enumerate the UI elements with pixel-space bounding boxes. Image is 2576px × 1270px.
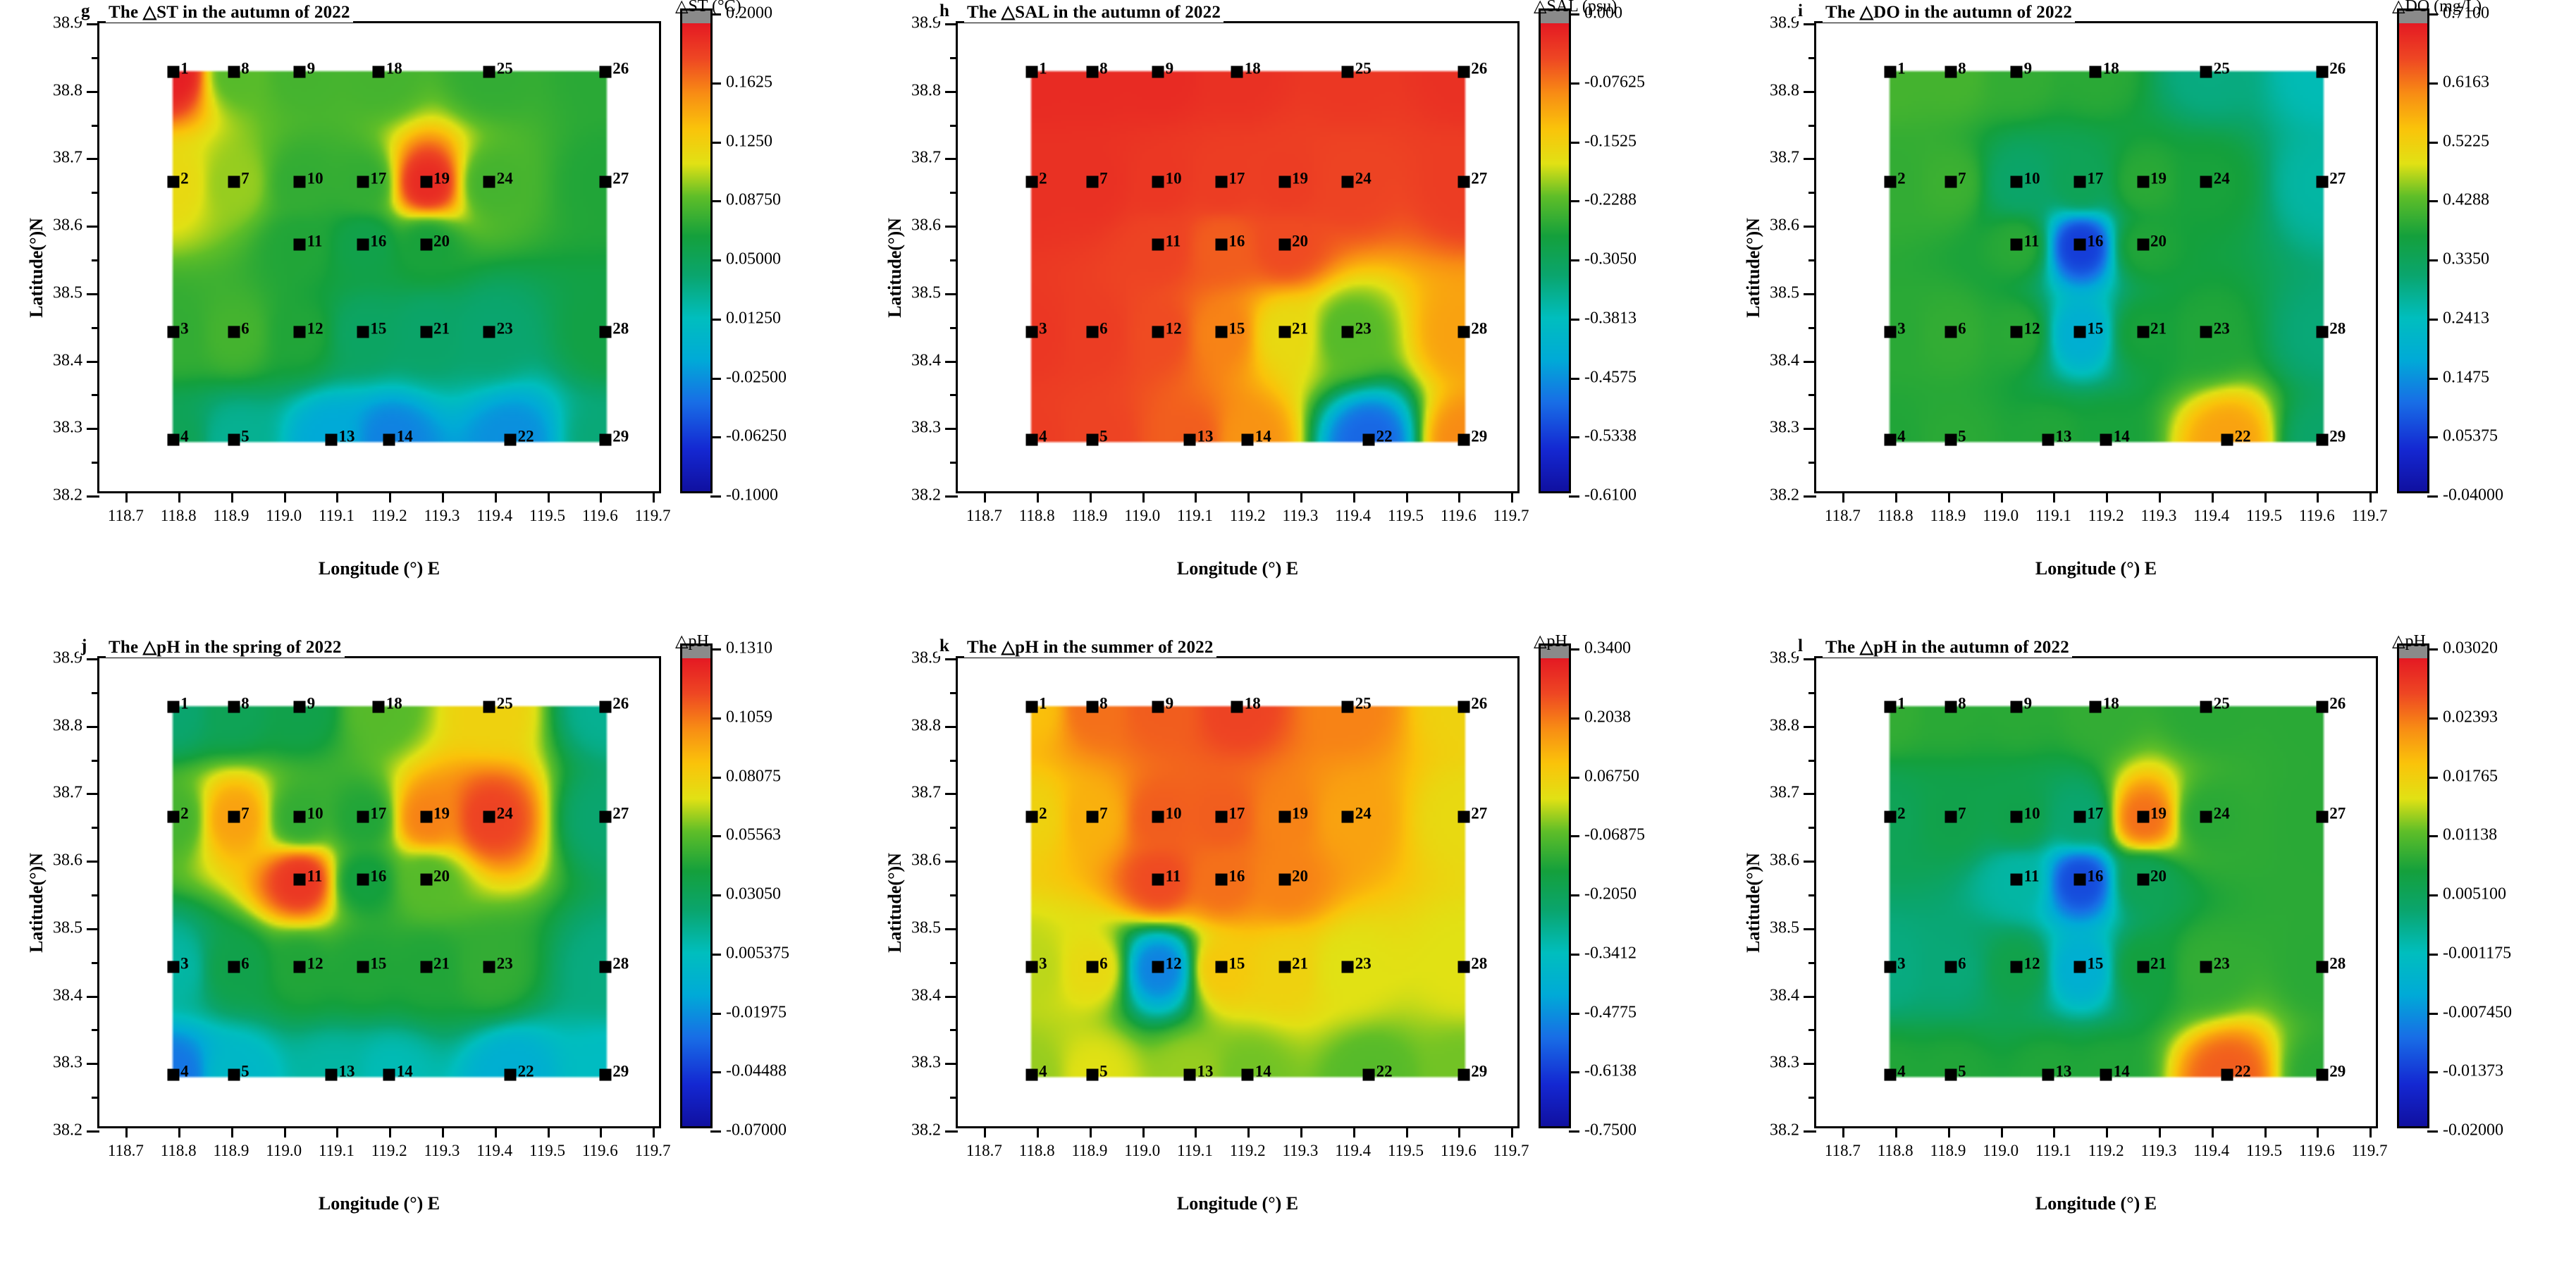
y-axis-minor-tick xyxy=(92,692,99,694)
station-dot-icon xyxy=(420,238,432,250)
station-dot-icon xyxy=(599,433,611,445)
y-axis-minor-tick xyxy=(92,894,99,896)
station-marker: 16 xyxy=(357,873,369,885)
station-marker: 21 xyxy=(420,961,432,973)
station-dot-icon xyxy=(294,873,306,885)
colorbar-tick xyxy=(1569,894,1579,896)
station-label: 20 xyxy=(433,868,450,884)
station-marker: 6 xyxy=(1945,326,1956,338)
x-axis-tick xyxy=(653,1126,655,1138)
colorbar-tick-label: 0.2413 xyxy=(2443,309,2489,328)
y-axis-tick xyxy=(1804,91,1816,93)
y-axis-minor-tick xyxy=(950,760,958,762)
colorbar-tick xyxy=(710,835,721,837)
station-marker: 11 xyxy=(1152,238,1164,250)
station-dot-icon xyxy=(1025,175,1037,187)
station-dot-icon xyxy=(2316,66,2328,78)
station-marker: 25 xyxy=(1342,66,1354,78)
station-label: 11 xyxy=(1166,233,1181,249)
station-dot-icon xyxy=(373,701,385,713)
y-axis-minor-tick xyxy=(92,462,99,464)
station-label: 6 xyxy=(1099,321,1108,337)
station-dot-icon xyxy=(2011,326,2023,338)
x-axis-tick xyxy=(1300,1126,1302,1138)
station-label: 2 xyxy=(1897,170,1906,186)
colorbar-tick xyxy=(2427,259,2438,261)
station-label: 8 xyxy=(1958,60,1966,76)
station-dot-icon xyxy=(2073,326,2085,338)
station-label: 9 xyxy=(1166,60,1174,76)
station-dot-icon xyxy=(483,961,495,973)
station-dot-icon xyxy=(1215,238,1227,250)
station-label: 27 xyxy=(2329,170,2346,186)
y-axis-tick xyxy=(1804,1130,1816,1133)
station-marker: 22 xyxy=(2221,1068,2233,1080)
x-axis-tick-label: 119.6 xyxy=(2299,1142,2335,1160)
station-dot-icon xyxy=(2100,1068,2112,1080)
y-axis-tick-label: 38.7 xyxy=(53,149,82,168)
station-marker: 25 xyxy=(1342,701,1354,713)
station-label: 16 xyxy=(1228,868,1245,884)
station-label: 18 xyxy=(386,695,402,711)
station-marker: 18 xyxy=(2090,701,2102,713)
colorbar-tick xyxy=(710,319,721,321)
station-marker: 17 xyxy=(2073,175,2085,187)
y-axis-tick-label: 38.3 xyxy=(1770,1054,1799,1073)
y-axis-tick xyxy=(87,726,99,728)
station-dot-icon xyxy=(167,66,179,78)
x-axis-tick xyxy=(442,491,444,503)
y-axis-minor-tick xyxy=(950,57,958,59)
station-label: 21 xyxy=(433,956,450,972)
station-label: 27 xyxy=(1471,170,1487,186)
station-marker: 9 xyxy=(1152,701,1164,713)
station-marker: 13 xyxy=(2042,1068,2054,1080)
x-axis-tick-label: 119.2 xyxy=(1230,507,1266,525)
station-label: 14 xyxy=(1255,1063,1271,1079)
station-label: 8 xyxy=(241,695,249,711)
colorbar-tick-label: -0.7500 xyxy=(1584,1121,1637,1140)
colorbar-title: △pH xyxy=(1534,631,1567,651)
y-axis-tick xyxy=(87,428,99,430)
y-axis-tick xyxy=(87,658,99,660)
x-axis-tick xyxy=(1247,491,1250,503)
colorbar-tick-label: -0.3813 xyxy=(1584,309,1637,328)
station-label: 12 xyxy=(307,321,323,337)
y-axis-tick xyxy=(945,1063,958,1065)
y-axis-tick xyxy=(1804,226,1816,228)
station-label: 20 xyxy=(2150,233,2167,249)
station-marker: 22 xyxy=(1363,433,1375,445)
station-label: 18 xyxy=(1245,695,1261,711)
colorbar-tick-label: 0.2038 xyxy=(1584,708,1631,727)
station-dot-icon xyxy=(1231,66,1243,78)
colorbar-g: 0.20000.16250.12500.087500.050000.01250-… xyxy=(680,21,713,493)
y-axis-tick xyxy=(945,361,958,363)
y-axis-tick xyxy=(945,861,958,863)
y-axis-tick xyxy=(87,996,99,998)
station-marker: 1 xyxy=(167,701,179,713)
station-label: 1 xyxy=(180,695,189,711)
y-axis-tick xyxy=(945,1130,958,1133)
station-marker: 3 xyxy=(1025,961,1037,973)
station-label: 25 xyxy=(2214,695,2230,711)
x-axis-tick xyxy=(2317,491,2319,503)
colorbar-tick-label: -0.04488 xyxy=(726,1062,787,1081)
x-axis-tick-label: 119.5 xyxy=(2246,507,2282,525)
station-marker: 13 xyxy=(1183,1068,1195,1080)
y-axis-minor-tick xyxy=(1808,760,1816,762)
panel-letter-k: k xyxy=(937,636,951,656)
station-label: 3 xyxy=(1897,321,1906,337)
station-label: 5 xyxy=(1958,428,1966,444)
station-marker: 27 xyxy=(1458,175,1469,187)
station-marker: 4 xyxy=(167,1068,179,1080)
x-axis-tick xyxy=(2053,1126,2055,1138)
station-label: 1 xyxy=(180,60,189,76)
station-marker: 3 xyxy=(1884,961,1896,973)
x-axis-title: Longitude (°) E xyxy=(97,1193,661,1214)
station-label: 20 xyxy=(433,233,450,249)
station-marker: 24 xyxy=(2200,175,2212,187)
station-marker: 14 xyxy=(1242,433,1254,445)
station-dot-icon xyxy=(1242,1068,1254,1080)
station-marker: 29 xyxy=(599,433,611,445)
colorbar-tick xyxy=(1569,1071,1579,1073)
station-dot-icon xyxy=(1458,961,1469,973)
colorbar-tick-label: -0.3412 xyxy=(1584,944,1637,963)
station-label: 27 xyxy=(612,805,629,821)
x-axis-tick-label: 118.7 xyxy=(1825,507,1861,525)
colorbar-tick xyxy=(2427,82,2438,85)
colorbar-tick xyxy=(1569,954,1579,956)
station-marker: 6 xyxy=(1086,326,1098,338)
station-label: 4 xyxy=(1039,1063,1047,1079)
station-label: 6 xyxy=(1958,956,1966,972)
station-dot-icon xyxy=(357,961,369,973)
y-axis-minor-tick xyxy=(950,394,958,396)
station-label: 10 xyxy=(1166,805,1182,821)
station-marker: 2 xyxy=(1884,810,1896,822)
colorbar-tick xyxy=(710,894,721,896)
station-marker: 20 xyxy=(2137,238,2149,250)
station-label: 6 xyxy=(241,956,249,972)
station-dot-icon xyxy=(2316,810,2328,822)
y-axis-tick-label: 38.7 xyxy=(911,149,941,168)
station-dot-icon xyxy=(2011,810,2023,822)
y-axis-tick-label: 38.2 xyxy=(911,1121,941,1140)
station-label: 7 xyxy=(1099,170,1108,186)
y-axis-tick-label: 38.8 xyxy=(53,81,82,100)
station-marker: 8 xyxy=(228,66,240,78)
colorbar-tick-label: -0.1525 xyxy=(1584,132,1637,151)
panel-h: 1234567891011121314151617181920212223242… xyxy=(858,0,1717,635)
station-marker: 21 xyxy=(2137,961,2149,973)
station-dot-icon xyxy=(483,326,495,338)
station-dot-icon xyxy=(1025,1068,1037,1080)
station-dot-icon xyxy=(1945,433,1956,445)
plot-area-j: 1234567891011121314151617181920212223242… xyxy=(97,656,661,1128)
station-label: 2 xyxy=(1897,805,1906,821)
x-axis-tick-label: 119.0 xyxy=(1124,507,1160,525)
station-dot-icon xyxy=(228,66,240,78)
station-marker: 29 xyxy=(2316,1068,2328,1080)
y-axis-tick-label: 38.7 xyxy=(53,784,82,803)
station-label: 19 xyxy=(2150,805,2167,821)
y-axis-tick xyxy=(945,793,958,795)
station-dot-icon xyxy=(2137,238,2149,250)
y-axis-tick xyxy=(1804,158,1816,160)
station-dot-icon xyxy=(2137,326,2149,338)
station-dot-icon xyxy=(2073,873,2085,885)
station-marker: 19 xyxy=(1278,810,1290,822)
station-dot-icon xyxy=(294,175,306,187)
colorbar-tick xyxy=(710,648,721,651)
panel-l: 1234567891011121314151617181920212223242… xyxy=(1717,635,2575,1270)
station-marker: 4 xyxy=(1025,433,1037,445)
x-axis-tick xyxy=(1142,491,1145,503)
x-axis-tick-label: 119.7 xyxy=(2352,1142,2388,1160)
station-marker: 18 xyxy=(373,701,385,713)
colorbar-tick-label: -0.3050 xyxy=(1584,250,1637,269)
colorbar-tick-label: -0.6100 xyxy=(1584,486,1637,505)
x-axis-tick-label: 119.1 xyxy=(1177,1142,1213,1160)
station-label: 23 xyxy=(497,956,513,972)
x-axis-tick-label: 119.2 xyxy=(2088,1142,2124,1160)
station-dot-icon xyxy=(1278,175,1290,187)
station-dot-icon xyxy=(1884,326,1896,338)
station-marker: 15 xyxy=(1215,326,1227,338)
station-marker: 18 xyxy=(2090,66,2102,78)
y-axis-tick xyxy=(945,226,958,228)
colorbar-tick xyxy=(1569,1013,1579,1015)
station-dot-icon xyxy=(1945,66,1956,78)
station-dot-icon xyxy=(2200,961,2212,973)
station-label: 10 xyxy=(2024,805,2040,821)
station-label: 12 xyxy=(1166,321,1182,337)
station-label: 17 xyxy=(1228,805,1245,821)
colorbar-title: △DO (mg/L) xyxy=(2392,0,2482,16)
station-dot-icon xyxy=(2316,961,2328,973)
station-label: 9 xyxy=(307,60,316,76)
x-axis-tick-label: 119.4 xyxy=(476,507,512,525)
station-label: 7 xyxy=(241,170,249,186)
station-dot-icon xyxy=(483,175,495,187)
station-dot-icon xyxy=(2073,961,2085,973)
station-dot-icon xyxy=(1884,961,1896,973)
station-dot-icon xyxy=(325,433,337,445)
station-label: 18 xyxy=(2103,695,2119,711)
station-marker: 15 xyxy=(1215,961,1227,973)
station-dot-icon xyxy=(1025,701,1037,713)
x-axis-tick xyxy=(1090,491,1092,503)
y-axis-tick-label: 38.6 xyxy=(911,216,941,235)
station-dot-icon xyxy=(2137,175,2149,187)
station-dot-icon xyxy=(1025,810,1037,822)
station-label: 28 xyxy=(612,321,629,337)
station-marker: 1 xyxy=(1884,66,1896,78)
colorbar-tick-label: 0.01250 xyxy=(726,309,781,328)
y-axis-tick-label: 38.4 xyxy=(911,986,941,1005)
station-label: 21 xyxy=(2150,321,2167,337)
station-dot-icon xyxy=(1884,433,1896,445)
x-axis-tick-label: 119.0 xyxy=(266,1142,302,1160)
station-marker: 26 xyxy=(2316,66,2328,78)
station-label: 8 xyxy=(1099,695,1108,711)
y-axis-title: Latitude(°)N xyxy=(885,176,906,359)
station-label: 28 xyxy=(2329,956,2346,972)
y-axis-tick-label: 38.9 xyxy=(1770,14,1799,33)
x-axis-tick xyxy=(1511,491,1513,503)
station-marker: 11 xyxy=(1152,873,1164,885)
x-axis-tick-label: 118.8 xyxy=(1878,1142,1913,1160)
x-axis-tick-label: 119.6 xyxy=(1441,507,1477,525)
colorbar-tick-label: 0.05000 xyxy=(726,250,781,269)
station-dot-icon xyxy=(2316,433,2328,445)
station-dot-icon xyxy=(599,810,611,822)
x-axis-tick-label: 119.1 xyxy=(319,1142,355,1160)
station-dot-icon xyxy=(357,810,369,822)
station-label: 5 xyxy=(1099,428,1108,444)
station-dot-icon xyxy=(2100,433,2112,445)
station-dot-icon xyxy=(2042,433,2054,445)
y-axis-minor-tick xyxy=(1808,827,1816,829)
station-label: 15 xyxy=(2087,321,2103,337)
station-label: 17 xyxy=(1228,170,1245,186)
station-marker: 16 xyxy=(357,238,369,250)
station-dot-icon xyxy=(420,175,432,187)
y-axis-tick-label: 38.5 xyxy=(53,918,82,937)
station-marker: 1 xyxy=(167,66,179,78)
y-axis-minor-tick xyxy=(1808,1097,1816,1099)
x-axis-tick-label: 119.7 xyxy=(635,507,671,525)
x-axis-tick xyxy=(548,1126,550,1138)
station-dot-icon xyxy=(420,326,432,338)
x-axis-tick xyxy=(231,1126,233,1138)
station-label: 8 xyxy=(1958,695,1966,711)
station-label: 4 xyxy=(180,1063,189,1079)
station-label: 27 xyxy=(2329,805,2346,821)
station-label: 24 xyxy=(1355,805,1372,821)
station-dot-icon xyxy=(599,326,611,338)
colorbar-tick xyxy=(710,717,721,720)
station-label: 10 xyxy=(1166,170,1182,186)
station-dot-icon xyxy=(2137,873,2149,885)
colorbar-title: △SAL (psu) xyxy=(1534,0,1617,16)
x-axis-tick-label: 119.6 xyxy=(582,1142,618,1160)
x-axis-tick-label: 119.7 xyxy=(1493,1142,1529,1160)
station-marker: 12 xyxy=(1152,326,1164,338)
x-axis-tick xyxy=(1300,491,1302,503)
station-dot-icon xyxy=(1278,810,1290,822)
station-marker: 28 xyxy=(2316,326,2328,338)
colorbar-tick xyxy=(1569,142,1579,144)
y-axis-minor-tick xyxy=(950,692,958,694)
colorbar-tick-label: 0.1250 xyxy=(726,132,772,151)
colorbar-tick xyxy=(1569,648,1579,651)
station-dot-icon xyxy=(2011,66,2023,78)
colorbar-tick-label: -0.5338 xyxy=(1584,427,1637,446)
station-marker: 20 xyxy=(2137,873,2149,885)
x-axis-tick xyxy=(2369,491,2372,503)
y-axis-minor-tick xyxy=(92,1029,99,1031)
x-axis-tick xyxy=(389,491,391,503)
y-axis-tick xyxy=(945,928,958,930)
x-axis-tick xyxy=(1037,491,1039,503)
colorbar-tick xyxy=(2427,777,2438,779)
station-marker: 6 xyxy=(228,961,240,973)
station-marker: 21 xyxy=(1278,326,1290,338)
x-axis-tick xyxy=(2369,1126,2372,1138)
y-axis-tick-label: 38.2 xyxy=(911,486,941,505)
station-marker: 26 xyxy=(2316,701,2328,713)
station-marker: 20 xyxy=(420,873,432,885)
y-axis-minor-tick xyxy=(950,462,958,464)
station-marker: 26 xyxy=(1458,701,1469,713)
figure-root: 1234567891011121314151617181920212223242… xyxy=(0,0,2576,1270)
x-axis-tick-label: 119.3 xyxy=(2141,1142,2177,1160)
station-label: 8 xyxy=(241,60,249,76)
station-label: 4 xyxy=(1897,428,1906,444)
x-axis-title: Longitude (°) E xyxy=(1814,1193,2378,1214)
station-label: 19 xyxy=(1292,170,1308,186)
station-dot-icon xyxy=(228,175,240,187)
station-dot-icon xyxy=(1363,433,1375,445)
station-label: 21 xyxy=(2150,956,2167,972)
station-dot-icon xyxy=(167,701,179,713)
colorbar-tick-label: -0.07625 xyxy=(1584,73,1645,92)
colorbar-tick xyxy=(2427,495,2438,498)
station-dot-icon xyxy=(2316,175,2328,187)
colorbar-k: 0.34000.20380.06750-0.06875-0.2050-0.341… xyxy=(1539,656,1571,1128)
station-dot-icon xyxy=(1152,873,1164,885)
y-axis-minor-tick xyxy=(950,1029,958,1031)
station-label: 28 xyxy=(1471,956,1487,972)
panel-k: 1234567891011121314151617181920212223242… xyxy=(858,635,1717,1270)
station-marker: 8 xyxy=(1086,66,1098,78)
heatmap-surface-h xyxy=(958,23,1522,495)
station-dot-icon xyxy=(1458,175,1469,187)
x-axis-tick xyxy=(1037,1126,1039,1138)
colorbar-tick xyxy=(2427,436,2438,438)
colorbar-tick-label: -0.1000 xyxy=(726,486,778,505)
station-marker: 4 xyxy=(1025,1068,1037,1080)
station-marker: 8 xyxy=(1945,701,1956,713)
station-label: 3 xyxy=(180,956,189,972)
y-axis-minor-tick xyxy=(950,327,958,329)
station-label: 12 xyxy=(307,956,323,972)
y-axis-tick xyxy=(1804,23,1816,25)
station-dot-icon xyxy=(2073,810,2085,822)
station-label: 17 xyxy=(370,805,386,821)
station-marker: 27 xyxy=(599,175,611,187)
colorbar-tick-label: 0.1059 xyxy=(726,708,772,727)
panel-title-h: The △SAL in the autumn of 2022 xyxy=(964,1,1224,23)
colorbar-i: 0.71000.61630.52250.42880.33500.24130.14… xyxy=(2397,21,2429,493)
station-dot-icon xyxy=(505,433,517,445)
x-axis-tick-label: 119.1 xyxy=(2035,1142,2071,1160)
colorbar-tick xyxy=(1569,835,1579,837)
y-axis-minor-tick xyxy=(1808,125,1816,127)
station-label: 5 xyxy=(1099,1063,1108,1079)
station-label: 9 xyxy=(1166,695,1174,711)
colorbar-tick-label: 0.05375 xyxy=(2443,427,2498,446)
y-axis-tick-label: 38.9 xyxy=(1770,649,1799,668)
station-dot-icon xyxy=(2316,326,2328,338)
y-axis-tick xyxy=(1804,861,1816,863)
station-dot-icon xyxy=(1342,175,1354,187)
colorbar-tick-label: 0.01765 xyxy=(2443,767,2498,786)
